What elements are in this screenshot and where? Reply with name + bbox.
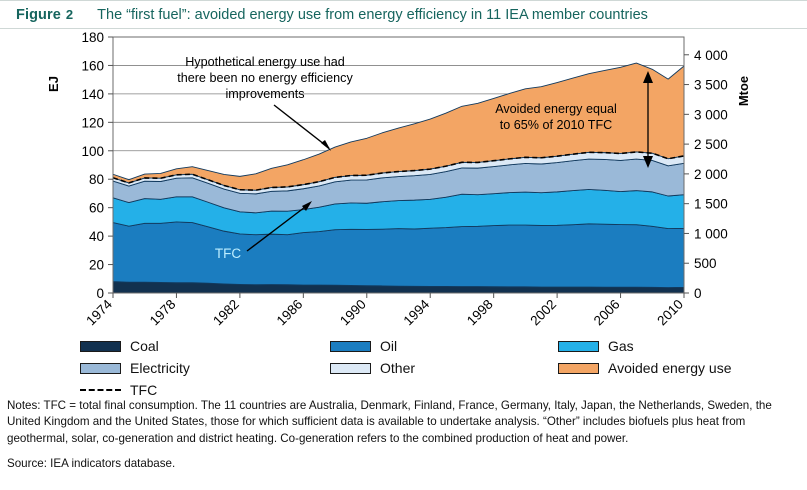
notes-body: Notes: TFC = total final consumption. Th… — [7, 398, 802, 447]
legend-item-gas[interactable]: Gas — [558, 338, 634, 354]
legend-label-coal: Coal — [130, 338, 159, 354]
y-axis-right-ticks: 05001 0001 5002 0002 5003 0003 5004 000 — [684, 48, 728, 301]
figure-header: Figure 2 The “first fuel”: avoided energ… — [0, 0, 807, 29]
legend-item-oil[interactable]: Oil — [330, 338, 397, 354]
figure-label: Figure — [16, 7, 61, 23]
y-axis-left-tick-label: 60 — [89, 201, 104, 216]
x-axis-ticks: 1974197819821986199019941998200220062010 — [83, 293, 686, 328]
legend-swatch-coal — [80, 341, 121, 352]
legend-swatch-other — [330, 363, 371, 374]
y-axis-left-tick-label: 80 — [89, 172, 104, 187]
y-axis-left-tick-label: 160 — [81, 58, 104, 73]
y-axis-right-tick-label: 2 500 — [694, 137, 728, 152]
chart-container: 020406080100120140160180 05001 0001 5002… — [0, 29, 807, 335]
y-axis-right-tick-label: 1 000 — [694, 226, 728, 241]
y-axis-left-tick-label: 180 — [81, 30, 104, 45]
legend-label-electricity: Electricity — [130, 360, 190, 376]
annotation-hypothetical-line3: improvements — [225, 87, 304, 101]
legend-swatch-oil — [330, 341, 371, 352]
x-axis-tick-label: 1974 — [83, 296, 115, 328]
legend-label-gas: Gas — [608, 338, 634, 354]
legend-label-other: Other — [380, 360, 415, 376]
y-axis-left-tick-label: 20 — [89, 258, 104, 273]
y-axis-left-ticks: 020406080100120140160180 — [81, 30, 113, 301]
legend-swatch-electricity — [80, 363, 121, 374]
legend-label-oil: Oil — [380, 338, 397, 354]
y-axis-right-tick-label: 3 000 — [694, 107, 728, 122]
x-axis-tick-label: 2002 — [527, 297, 559, 329]
annotation-avoided-line2: to 65% of 2010 TFC — [500, 118, 612, 132]
annotation-hypothetical-arrow-head — [321, 140, 331, 151]
x-axis-tick-label: 2010 — [654, 297, 686, 329]
chart-area-series — [113, 63, 684, 293]
annotation-hypothetical-line1: Hypothetical energy use had — [185, 55, 345, 69]
y-axis-left-tick-label: 40 — [89, 229, 104, 244]
legend-item-tfc[interactable]: TFC — [80, 382, 157, 398]
y-axis-left-tick-label: 120 — [81, 115, 104, 130]
area-series-oil — [113, 222, 684, 288]
legend-swatch-tfc — [80, 389, 121, 391]
x-axis-tick-label: 1998 — [464, 297, 496, 329]
figure-notes: Notes: TFC = total final consumption. Th… — [7, 398, 802, 482]
y-axis-right-tick-label: 0 — [694, 286, 702, 301]
y-axis-right-tick-label: 3 500 — [694, 78, 728, 93]
annotation-hypothetical: Hypothetical energy use had there been n… — [177, 55, 353, 151]
y-axis-left-tick-label: 140 — [81, 87, 104, 102]
annotation-tfc-label: TFC — [215, 246, 241, 261]
legend-label-avoided-energy-use: Avoided energy use — [608, 360, 732, 376]
x-axis-tick-label: 1994 — [400, 296, 432, 328]
y-axis-right-tick-label: 500 — [694, 256, 717, 271]
legend-item-other[interactable]: Other — [330, 360, 415, 376]
legend-label-tfc: TFC — [130, 382, 157, 398]
stacked-area-chart: 020406080100120140160180 05001 0001 5002… — [0, 29, 807, 335]
legend-item-electricity[interactable]: Electricity — [80, 360, 190, 376]
x-axis-tick-label: 1978 — [147, 297, 179, 329]
legend-swatch-avoided-energy-use — [558, 363, 599, 374]
y-axis-left-tick-label: 100 — [81, 144, 104, 159]
x-axis-tick-label: 1982 — [210, 297, 242, 329]
annotation-avoided-line1: Avoided energy equal — [495, 102, 617, 116]
y-axis-right-title: Mtoe — [736, 76, 751, 106]
chart-legend: Coal Oil Gas Electricity Other Avoided e… — [0, 336, 807, 394]
x-axis-tick-label: 2006 — [591, 297, 623, 329]
annotation-hypothetical-line2: there been no energy efficiency — [177, 71, 353, 85]
x-axis-tick-label: 1990 — [337, 297, 369, 329]
y-axis-right-tick-label: 1 500 — [694, 197, 728, 212]
legend-item-avoided-energy-use[interactable]: Avoided energy use — [558, 360, 732, 376]
y-axis-left-title: EJ — [46, 76, 61, 92]
y-axis-right-tick-label: 2 000 — [694, 167, 728, 182]
notes-source: Source: IEA indicators database. — [7, 456, 802, 472]
legend-swatch-gas — [558, 341, 599, 352]
legend-item-coal[interactable]: Coal — [80, 338, 159, 354]
y-axis-right-tick-label: 4 000 — [694, 48, 728, 63]
figure-page: Figure 2 The “first fuel”: avoided energ… — [0, 0, 807, 490]
page-title: The “first fuel”: avoided energy use fro… — [97, 7, 648, 23]
annotation-hypothetical-arrow-line — [274, 105, 329, 148]
x-axis-tick-label: 1986 — [274, 297, 306, 329]
figure-number: 2 — [66, 7, 73, 22]
